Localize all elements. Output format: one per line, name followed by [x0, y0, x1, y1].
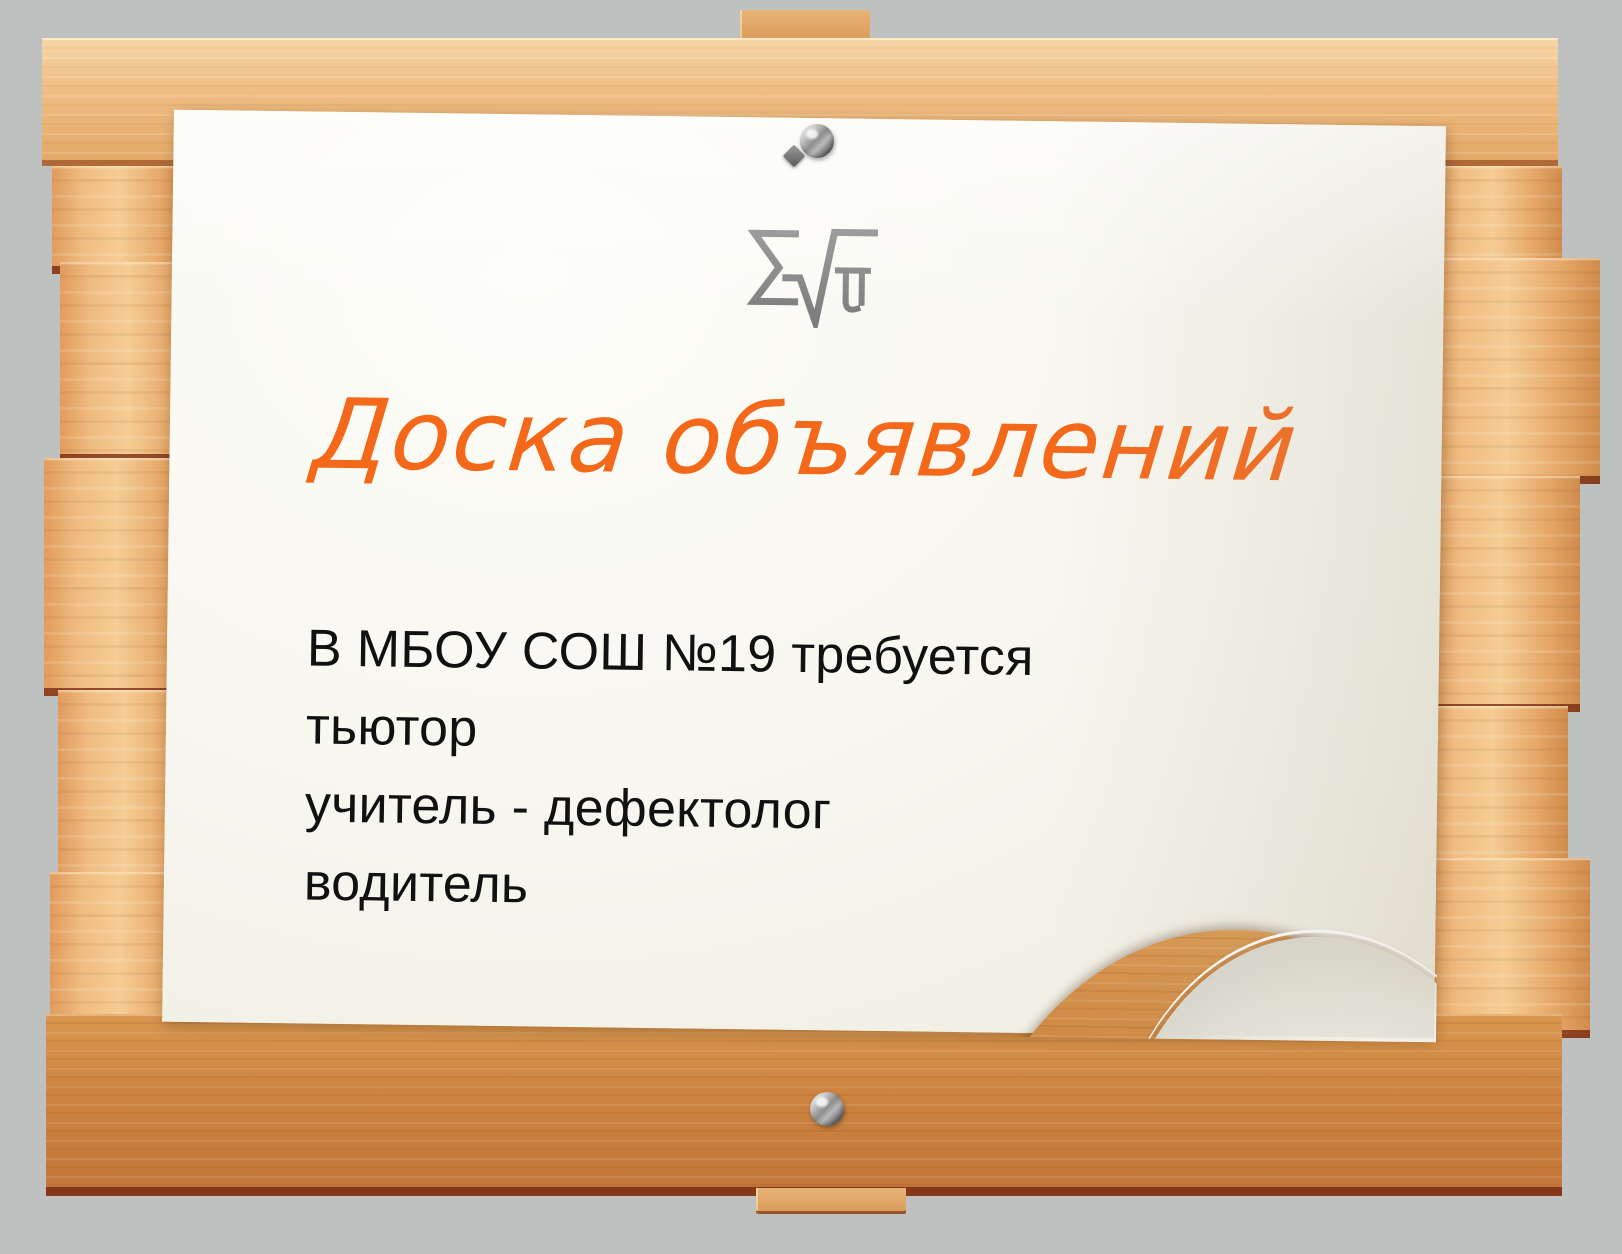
board-plank-right-1: [1430, 166, 1562, 270]
board-bottom-mount-tab: [756, 1188, 906, 1214]
board-plank-right-5: [1424, 858, 1590, 1038]
notice-body-line-2: тьютор: [305, 687, 1326, 778]
notice-body-line-4: водитель: [303, 843, 1324, 934]
board-plank-right-4: [1422, 706, 1568, 866]
paper-notice[interactable]: Доска объявлений В МБОУ СОШ №19 требуетс…: [162, 110, 1446, 1039]
board-plank-right-2: [1422, 258, 1600, 484]
notice-body-line-3: учитель - дефектолог: [304, 765, 1325, 856]
board-plank-right-3: [1428, 476, 1580, 712]
notice-content: Доска объявлений В МБОУ СОШ №19 требуетс…: [162, 110, 1446, 1039]
notice-title: Доска объявлений: [165, 382, 1447, 500]
push-pin-bottom[interactable]: [810, 1092, 844, 1126]
announcement-board-scene: Доска объявлений В МБОУ СОШ №19 требуетс…: [0, 0, 1622, 1254]
push-pin-top[interactable]: [800, 124, 834, 158]
board-plank-left-1: [52, 166, 192, 274]
board-plank-bottom: [46, 1014, 1562, 1196]
sigma-sqrt-pi-math-logo: [171, 210, 1444, 337]
notice-body-line-1: В МБОУ СОШ №19 требуется: [306, 610, 1327, 701]
notice-body: В МБОУ СОШ №19 требуется тьютор учитель …: [303, 610, 1327, 935]
